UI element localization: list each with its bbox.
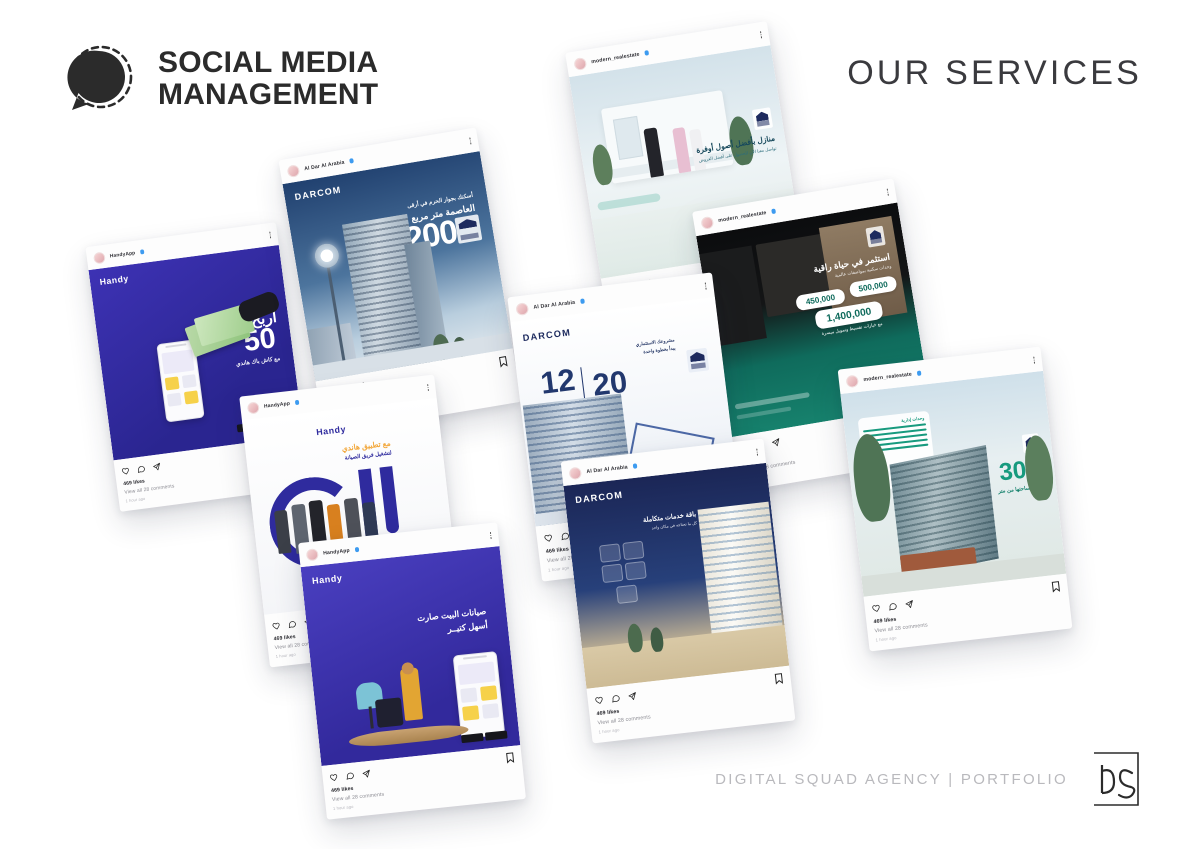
more-options-icon[interactable] [489, 532, 491, 539]
avatar[interactable] [700, 215, 714, 229]
instagram-post-card[interactable]: Al Dar Al Arabia DARCOM باقة خدمات متكام… [561, 439, 796, 743]
avatar[interactable] [568, 466, 582, 480]
verified-badge-icon [917, 371, 922, 376]
more-options-icon[interactable] [886, 189, 889, 196]
more-options-icon[interactable] [269, 232, 271, 239]
slide-canvas: SOCIAL MEDIA MANAGEMENT OUR SERVICES Han… [0, 0, 1200, 849]
verified-badge-icon [771, 209, 776, 214]
heart-icon[interactable] [272, 621, 282, 631]
more-options-icon[interactable] [760, 31, 763, 38]
bookmark-icon[interactable] [505, 752, 515, 764]
heart-icon[interactable] [121, 466, 131, 476]
ds-monogram-icon [1090, 751, 1142, 807]
verified-badge-icon [580, 299, 585, 304]
heart-icon[interactable] [595, 695, 605, 705]
bookmark-icon[interactable] [498, 355, 509, 367]
stat-left: 12 [539, 366, 577, 398]
comment-bubble-icon[interactable] [888, 601, 898, 611]
post-username[interactable]: HandyApp [109, 250, 135, 259]
post-username[interactable]: HandyApp [323, 547, 350, 556]
comment-bubble-icon[interactable] [136, 464, 146, 474]
heart-icon[interactable] [544, 533, 554, 543]
post-username[interactable]: modern_realestate [718, 209, 767, 223]
footer: DIGITAL SQUAD AGENCY | PORTFOLIO [715, 751, 1142, 807]
avatar[interactable] [93, 251, 106, 264]
comment-bubble-icon[interactable] [345, 771, 355, 781]
avatar[interactable] [306, 548, 319, 561]
heart-icon[interactable] [329, 772, 339, 782]
verified-badge-icon [633, 463, 638, 468]
avatar[interactable] [247, 401, 260, 414]
post-mockup-board: HandyApp Handy اربح 50 مع كاش باك هاندي … [0, 0, 1200, 849]
footer-credit: DIGITAL SQUAD AGENCY | PORTFOLIO [715, 771, 1068, 788]
more-options-icon[interactable] [1033, 357, 1035, 364]
share-paper-plane-icon[interactable] [904, 599, 914, 609]
share-paper-plane-icon[interactable] [361, 769, 371, 779]
avatar[interactable] [515, 302, 529, 316]
comment-bubble-icon[interactable] [287, 619, 297, 629]
post-username[interactable]: modern_realestate [591, 51, 640, 65]
more-options-icon[interactable] [756, 449, 758, 456]
share-paper-plane-icon[interactable] [770, 437, 781, 448]
post-media[interactable]: DARCOM أسكنك بجوار الحرم في أرقى العاصمة… [282, 151, 512, 381]
share-paper-plane-icon[interactable] [627, 691, 637, 701]
verified-badge-icon [295, 400, 300, 405]
verified-badge-icon [354, 547, 359, 552]
more-options-icon[interactable] [427, 384, 429, 391]
bookmark-icon[interactable] [1051, 580, 1061, 592]
instagram-post-card[interactable]: HandyApp Handy صيانات البيت صارت أسهل كت… [298, 522, 526, 819]
more-options-icon[interactable] [704, 283, 706, 290]
post-username[interactable]: HandyApp [264, 400, 291, 409]
avatar[interactable] [845, 374, 859, 388]
comment-bubble-icon[interactable] [611, 693, 621, 703]
instagram-post-card[interactable]: modern_realestate وحدات إدارية 300 تبدأ … [838, 347, 1073, 651]
post-media[interactable]: Handy صيانات البيت صارت أسهل كتيــر [301, 546, 521, 766]
post-username[interactable]: modern_realestate [863, 371, 912, 383]
verified-badge-icon [140, 249, 145, 254]
verified-badge-icon [644, 50, 649, 55]
post-media[interactable]: DARCOM باقة خدمات متكاملة كل ما تحتاجه ف… [563, 463, 789, 689]
share-paper-plane-icon[interactable] [152, 462, 162, 472]
post-username[interactable]: Al Dar Al Arabia [586, 464, 628, 475]
bookmark-icon[interactable] [774, 672, 784, 684]
heart-icon[interactable] [872, 603, 882, 613]
verified-badge-icon [349, 158, 354, 163]
more-options-icon[interactable] [469, 138, 472, 145]
avatar[interactable] [573, 56, 587, 70]
post-username[interactable]: Al Dar Al Arabia [533, 299, 575, 310]
post-username[interactable]: Al Dar Al Arabia [304, 159, 345, 172]
post-media[interactable]: وحدات إدارية 300 تبدأ مساحتها من متر [840, 371, 1066, 597]
avatar[interactable] [286, 164, 300, 178]
